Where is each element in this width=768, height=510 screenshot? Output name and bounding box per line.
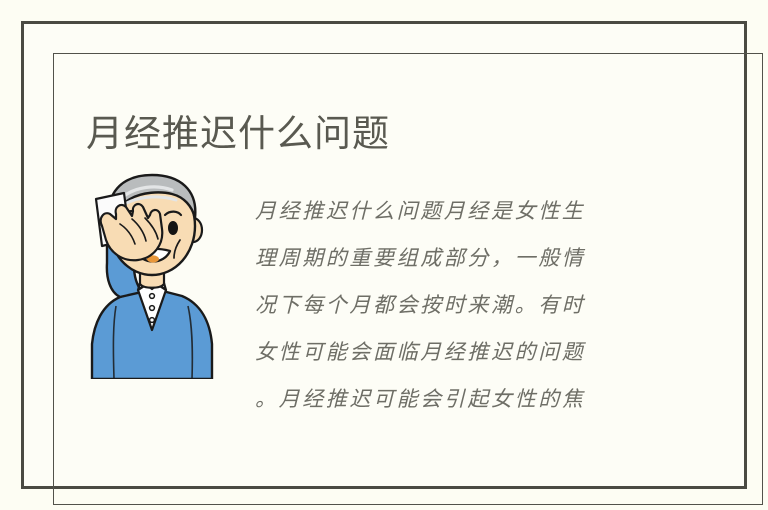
- illustration-elderly-man-on-phone: [80, 166, 224, 379]
- article-body-line: 月经推迟什么问题月经是女性生: [255, 188, 679, 235]
- article-body: 月经推迟什么问题月经是女性生 理周期的重要组成部分，一般情 况下每个月都会按时来…: [255, 188, 679, 423]
- page-title: 月经推迟什么问题: [86, 111, 390, 157]
- article-body-line: 女性可能会面临月经推迟的问题: [255, 329, 679, 376]
- article-body-line: 。月经推迟可能会引起女性的焦: [255, 376, 679, 423]
- article-body-line: 理周期的重要组成部分，一般情: [255, 235, 679, 282]
- page-root: 月经推迟什么问题: [0, 0, 768, 510]
- article-body-line: 况下每个月都会按时来潮。有时: [255, 282, 679, 329]
- article-card-frame-outer: 月经推迟什么问题: [21, 21, 747, 489]
